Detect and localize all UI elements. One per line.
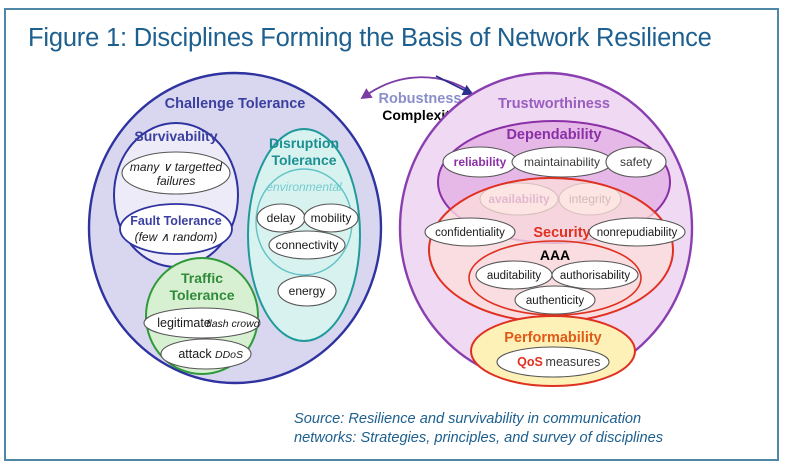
source-note: Source: Resilience and survivability in … [294, 410, 764, 448]
legitimate-label: legitimate [157, 316, 211, 330]
trustworthiness-label: Trustworthiness [498, 96, 610, 112]
energy-label: energy [289, 284, 326, 298]
safety-label: safety [620, 155, 652, 169]
challenge-tolerance-label: Challenge Tolerance [165, 96, 306, 112]
performability-group[interactable]: Performability QoS measures [471, 316, 635, 386]
mobility-label: mobility [311, 211, 352, 225]
auditability-label: auditability [487, 270, 542, 282]
figure-frame: Figure 1: Disciplines Forming the Basis … [4, 8, 779, 461]
many-targetted-failures-line1: many ∨ targetted [130, 160, 222, 174]
dependability-label: Dependability [506, 127, 601, 143]
fault-tolerance-label: Fault Tolerance [130, 214, 222, 228]
nonrepudiability-label: nonrepudiability [597, 227, 678, 239]
maintainability-label: maintainability [524, 155, 600, 169]
disruption-tolerance-group[interactable]: Disruption Tolerance environmental delay… [248, 129, 360, 341]
source-line-1: Source: Resilience and survivability in … [294, 410, 764, 429]
flash-crowd-label: flash crowd [206, 318, 260, 330]
traffic-tolerance-label-line1: Traffic [181, 270, 223, 286]
fault-tolerance-sublabel: (few ∧ random) [135, 230, 218, 244]
connectivity-label: connectivity [276, 238, 339, 252]
challenge-tolerance-group[interactable]: Challenge Tolerance Survivability many ∨… [89, 73, 381, 383]
disruption-tolerance-label-line2: Tolerance [271, 152, 336, 168]
measures-label: measures [546, 355, 601, 369]
trustworthiness-group[interactable]: Trustworthiness Dependability reliabilit… [400, 73, 692, 386]
confidentiality-label: confidentiality [435, 227, 505, 239]
traffic-tolerance-label-line2: Tolerance [169, 287, 234, 303]
environmental-label: environmental [266, 180, 342, 194]
survivability-label: Survivability [134, 128, 217, 144]
performability-label: Performability [504, 330, 602, 346]
disruption-tolerance-label-line1: Disruption [269, 135, 339, 151]
qos-label: QoS [517, 355, 543, 369]
delay-label: delay [267, 211, 296, 225]
fault-tolerance-ellipse[interactable] [120, 204, 232, 254]
attack-label: attack [178, 347, 212, 361]
traffic-tolerance-group[interactable]: Traffic Tolerance legitimate flash crowd… [144, 258, 261, 374]
ddos-label: DDoS [215, 349, 243, 361]
aaa-label: AAA [540, 247, 570, 263]
many-targetted-failures-line2: failures [157, 174, 196, 188]
robustness-label: Robustness [379, 91, 462, 107]
authenticity-label: authenticity [526, 295, 584, 307]
survivability-group[interactable]: Survivability many ∨ targetted failures … [114, 123, 238, 267]
reliability-label: reliability [454, 155, 507, 169]
authorisability-label: authorisability [560, 270, 631, 282]
security-label: Security [533, 225, 590, 241]
source-line-2: networks: Strategies, principles, and su… [294, 429, 764, 448]
network-resilience-diagram: Challenge Tolerance Survivability many ∨… [6, 10, 781, 463]
